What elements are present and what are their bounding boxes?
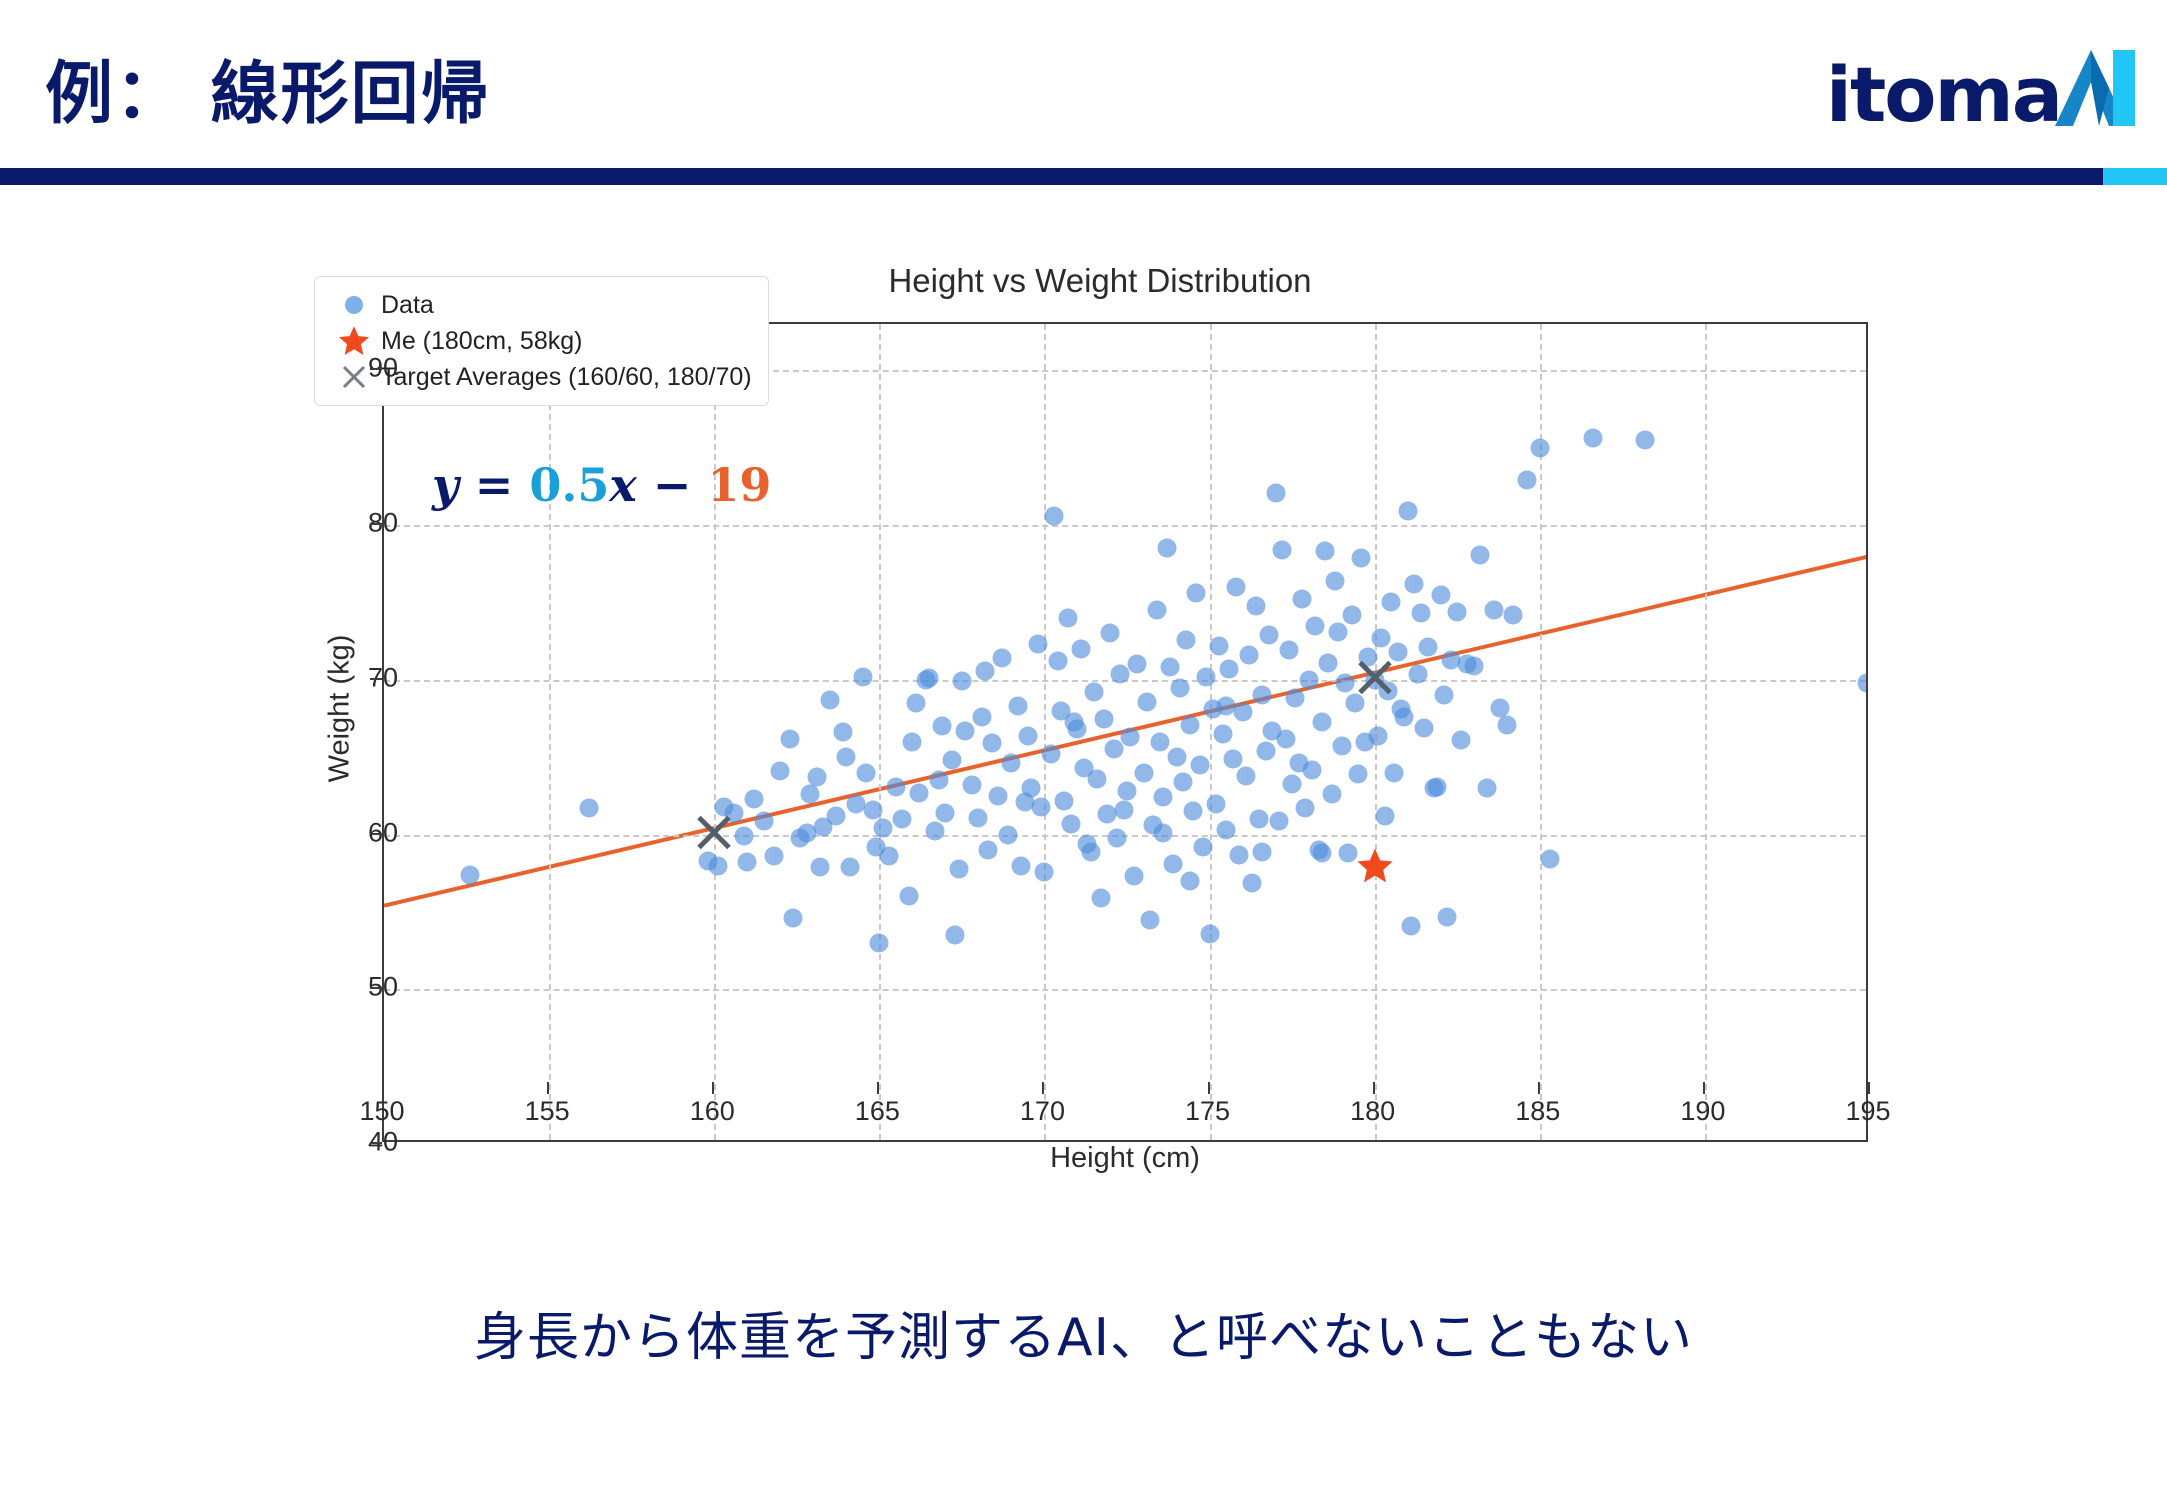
- legend-item: Data: [327, 287, 752, 323]
- brand-logo: itoma: [1826, 38, 2137, 130]
- ai-arrow-mark-icon: [2051, 44, 2137, 130]
- scatter-point: [1299, 670, 1318, 689]
- scatter-point: [1042, 745, 1061, 764]
- target-average-x-marker: [1354, 656, 1396, 703]
- scatter-point: [1174, 772, 1193, 791]
- scatter-point: [1177, 630, 1196, 649]
- scatter-point: [1332, 737, 1351, 756]
- x-tick-mark: [1208, 1082, 1210, 1094]
- scatter-point: [1147, 601, 1166, 620]
- scatter-point: [1088, 769, 1107, 788]
- scatter-point: [1210, 636, 1229, 655]
- scatter-point: [1279, 641, 1298, 660]
- scatter-point: [1355, 732, 1374, 751]
- scatter-point: [1418, 638, 1437, 657]
- scatter-point: [1256, 742, 1275, 761]
- scatter-point: [1167, 748, 1186, 767]
- scatter-point: [1217, 697, 1236, 716]
- scatter-point: [1094, 709, 1113, 728]
- scatter-point: [1114, 800, 1133, 819]
- gridline-vertical: [1044, 324, 1046, 1140]
- scatter-point: [1286, 689, 1305, 708]
- scatter-point: [1032, 797, 1051, 816]
- scatter-point: [1269, 811, 1288, 830]
- y-tick-label: 60: [338, 817, 398, 848]
- scatter-point: [1583, 429, 1602, 448]
- scatter-point: [1190, 755, 1209, 774]
- scatter-point: [1405, 574, 1424, 593]
- y-tick-mark: [370, 1142, 382, 1144]
- scatter-point: [873, 819, 892, 838]
- scatter-point: [886, 777, 905, 796]
- scatter-point: [1045, 506, 1064, 525]
- scatter-point: [1121, 728, 1140, 747]
- scatter-point: [1382, 593, 1401, 612]
- scatter-point: [1170, 678, 1189, 697]
- scatter-point: [1484, 601, 1503, 620]
- equation-variable: x: [609, 458, 636, 512]
- x-tick-label: 160: [690, 1096, 735, 1127]
- scatter-point: [1223, 749, 1242, 768]
- gridline-vertical: [1210, 324, 1212, 1140]
- page-title: 例： 線形回帰: [45, 38, 491, 137]
- scatter-point: [1213, 725, 1232, 744]
- scatter-point: [460, 865, 479, 884]
- legend-label: Me (180cm, 58kg): [381, 327, 582, 356]
- scatter-point: [1002, 754, 1021, 773]
- scatter-point: [1395, 707, 1414, 726]
- scatter-point: [933, 717, 952, 736]
- x-tick-label: 155: [525, 1096, 570, 1127]
- scatter-point: [1259, 625, 1278, 644]
- x-tick-label: 170: [1020, 1096, 1065, 1127]
- scatter-point: [1408, 664, 1427, 683]
- scatter-point: [1329, 622, 1348, 641]
- x-tick-mark: [1538, 1082, 1540, 1094]
- scatter-point: [1233, 703, 1252, 722]
- scatter-point: [1134, 763, 1153, 782]
- scatter-point: [919, 669, 938, 688]
- scatter-point: [1160, 658, 1179, 677]
- y-axis-label: Weight (kg): [324, 499, 357, 919]
- scatter-point: [800, 785, 819, 804]
- y-tick-label: 40: [338, 1127, 398, 1158]
- scatter-point: [837, 748, 856, 767]
- scatter-point: [1253, 842, 1272, 861]
- x-axis-label: Height (cm): [382, 1142, 1868, 1175]
- scatter-point: [979, 841, 998, 860]
- scatter-point: [1322, 785, 1341, 804]
- scatter-point: [1124, 867, 1143, 886]
- y-tick-label: 80: [338, 508, 398, 539]
- scatter-point: [810, 858, 829, 877]
- scatter-point: [771, 762, 790, 781]
- slide-header: 例： 線形回帰 itoma: [0, 0, 2167, 186]
- y-tick-label: 50: [338, 972, 398, 1003]
- scatter-point: [1289, 754, 1308, 773]
- scatter-point: [903, 732, 922, 751]
- scatter-point: [1154, 788, 1173, 807]
- scatter-point: [1497, 715, 1516, 734]
- scatter-point: [1283, 774, 1302, 793]
- equation-lhs: y: [432, 458, 459, 512]
- scatter-point: [942, 751, 961, 770]
- scatter-point: [949, 859, 968, 878]
- legend-label: Target Averages (160/60, 180/70): [381, 363, 752, 392]
- scatter-point: [1243, 873, 1262, 892]
- header-divider-rule: [0, 168, 2167, 185]
- x-tick-mark: [382, 1082, 384, 1094]
- scatter-point: [946, 926, 965, 945]
- scatter-point: [1312, 844, 1331, 863]
- scatter-point: [1048, 652, 1067, 671]
- scatter-point: [1154, 824, 1173, 843]
- scatter-point: [1530, 438, 1549, 457]
- scatter-point: [1319, 653, 1338, 672]
- scatter-point: [834, 723, 853, 742]
- scatter-point: [807, 768, 826, 787]
- scatter-point: [906, 694, 925, 713]
- scatter-point: [1306, 616, 1325, 635]
- x-tick-label: 165: [855, 1096, 900, 1127]
- gridline-vertical: [714, 324, 716, 1140]
- scatter-point: [1180, 715, 1199, 734]
- scatter-point: [1071, 639, 1090, 658]
- scatter-point: [1312, 712, 1331, 731]
- scatter-point: [754, 811, 773, 830]
- gridline-vertical: [549, 324, 551, 1140]
- y-tick-label: 90: [338, 353, 398, 384]
- scatter-point: [1184, 802, 1203, 821]
- x-tick-mark: [877, 1082, 879, 1094]
- scatter-point: [708, 856, 727, 875]
- equation-intercept: 19: [707, 458, 771, 512]
- x-tick-mark: [1703, 1082, 1705, 1094]
- scatter-point: [1236, 766, 1255, 785]
- scatter-point: [999, 825, 1018, 844]
- scatter-point: [1118, 782, 1137, 801]
- gridline-vertical: [1705, 324, 1707, 1140]
- scatter-point: [926, 822, 945, 841]
- scatter-point: [1207, 794, 1226, 813]
- scatter-point: [1015, 793, 1034, 812]
- scatter-point: [1180, 871, 1199, 890]
- scatter-point: [1035, 862, 1054, 881]
- scatter-point: [1028, 635, 1047, 654]
- scatter-point: [781, 729, 800, 748]
- scatter-point: [1217, 820, 1236, 839]
- scatter-point: [962, 776, 981, 795]
- scatter-point: [764, 847, 783, 866]
- scatter-point: [1061, 814, 1080, 833]
- scatter-point: [1078, 834, 1097, 853]
- scatter-point: [1296, 799, 1315, 818]
- x-tick-label: 180: [1350, 1096, 1395, 1127]
- scatter-point: [1471, 545, 1490, 564]
- scatter-point: [1451, 731, 1470, 750]
- scatter-point: [893, 810, 912, 829]
- scatter-point: [1448, 602, 1467, 621]
- scatter-point: [1065, 712, 1084, 731]
- scatter-point: [1342, 605, 1361, 624]
- scatter-point: [929, 771, 948, 790]
- equation-minus: −: [653, 458, 692, 512]
- target-average-x-marker: [693, 811, 735, 858]
- scatter-point: [1431, 585, 1450, 604]
- scatter-point: [1375, 807, 1394, 826]
- legend-label: Data: [381, 291, 434, 320]
- scatter-point: [1055, 791, 1074, 810]
- scatter-point: [1084, 683, 1103, 702]
- y-tick-mark: [370, 523, 382, 525]
- scatter-point: [870, 933, 889, 952]
- scatter-point: [1266, 483, 1285, 502]
- gridline-horizontal: [384, 525, 1866, 527]
- equation-slope: 0.5: [529, 458, 609, 512]
- equation-equals: =: [475, 458, 514, 512]
- scatter-point: [1101, 624, 1120, 643]
- gridline-vertical: [879, 324, 881, 1140]
- scatter-point: [1220, 660, 1239, 679]
- y-tick-mark: [370, 987, 382, 989]
- scatter-point: [1263, 721, 1282, 740]
- scatter-point: [1104, 740, 1123, 759]
- scatter-point: [1349, 765, 1368, 784]
- x-tick-mark: [712, 1082, 714, 1094]
- scatter-point: [1504, 605, 1523, 624]
- scatter-point: [1385, 763, 1404, 782]
- x-tick-label: 150: [359, 1096, 404, 1127]
- scatter-point: [1273, 540, 1292, 559]
- scatter-point: [734, 827, 753, 846]
- scatter-point: [1398, 502, 1417, 521]
- scatter-point: [1293, 590, 1312, 609]
- scatter-point: [1435, 686, 1454, 705]
- scatter-point: [956, 721, 975, 740]
- scatter-point: [1316, 542, 1335, 561]
- scatter-point: [1428, 777, 1447, 796]
- scatter-point: [1335, 673, 1354, 692]
- scatter-point: [840, 858, 859, 877]
- legend-circle-icon: [327, 294, 381, 316]
- scatter-point: [900, 887, 919, 906]
- scatter-point: [1157, 539, 1176, 558]
- scatter-point: [1012, 856, 1031, 875]
- slide-caption: 身長から体重を予測するAI、と呼べないこともない: [0, 1295, 2167, 1370]
- scatter-point: [909, 783, 928, 802]
- scatter-point: [1240, 646, 1259, 665]
- scatter-point: [969, 808, 988, 827]
- me-star-marker: [1355, 846, 1395, 886]
- scatter-point: [989, 786, 1008, 805]
- x-tick-label: 190: [1680, 1096, 1725, 1127]
- y-tick-mark: [370, 833, 382, 835]
- header-rule-cyan: [2103, 168, 2167, 185]
- scatter-point: [1246, 596, 1265, 615]
- scatter-point: [1226, 578, 1245, 597]
- scatter-point: [1137, 692, 1156, 711]
- scatter-point: [1540, 850, 1559, 869]
- x-tick-label: 175: [1185, 1096, 1230, 1127]
- scatter-point: [738, 853, 757, 872]
- header-rule-navy: [0, 168, 2103, 185]
- chart-legend: DataMe (180cm, 58kg)Target Averages (160…: [314, 276, 769, 406]
- scatter-point: [1352, 548, 1371, 567]
- scatter-point: [1151, 732, 1170, 751]
- regression-equation: y = 0.5x − 19: [432, 458, 771, 512]
- scatter-point: [1401, 916, 1420, 935]
- scatter-point: [797, 824, 816, 843]
- x-tick-mark: [1868, 1082, 1870, 1094]
- x-tick-mark: [1373, 1082, 1375, 1094]
- chart-figure: Height vs Weight Distribution Height (cm…: [300, 262, 1900, 1182]
- scatter-point: [992, 649, 1011, 668]
- scatter-point: [1253, 686, 1272, 705]
- scatter-point: [1193, 837, 1212, 856]
- scatter-point: [1415, 718, 1434, 737]
- scatter-point: [820, 690, 839, 709]
- scatter-point: [1438, 907, 1457, 926]
- scatter-point: [1250, 810, 1269, 829]
- scatter-point: [1141, 910, 1160, 929]
- scatter-point: [1477, 779, 1496, 798]
- scatter-point: [857, 763, 876, 782]
- scatter-point: [952, 672, 971, 691]
- scatter-point: [863, 800, 882, 819]
- scatter-point: [1009, 697, 1028, 716]
- scatter-point: [1326, 571, 1345, 590]
- scatter-point: [744, 789, 763, 808]
- scatter-point: [1018, 726, 1037, 745]
- y-tick-label: 70: [338, 662, 398, 693]
- scatter-point: [1411, 604, 1430, 623]
- scatter-point: [853, 667, 872, 686]
- scatter-point: [1372, 629, 1391, 648]
- gridline-horizontal: [384, 989, 1866, 991]
- scatter-point: [1091, 889, 1110, 908]
- brand-wordmark: itoma: [1826, 60, 2061, 130]
- scatter-point: [1636, 431, 1655, 450]
- scatter-point: [976, 661, 995, 680]
- y-tick-mark: [370, 678, 382, 680]
- x-tick-mark: [547, 1082, 549, 1094]
- scatter-point: [1230, 845, 1249, 864]
- scatter-point: [1108, 828, 1127, 847]
- x-tick-mark: [1042, 1082, 1044, 1094]
- scatter-point: [1197, 667, 1216, 686]
- scatter-point: [1187, 584, 1206, 603]
- scatter-point: [1127, 655, 1146, 674]
- scatter-point: [982, 734, 1001, 753]
- scatter-point: [1200, 924, 1219, 943]
- scatter-point: [784, 909, 803, 928]
- x-tick-label: 195: [1845, 1096, 1890, 1127]
- scatter-point: [1458, 655, 1477, 674]
- scatter-point: [936, 803, 955, 822]
- plot-area: [382, 322, 1868, 1142]
- scatter-point: [827, 807, 846, 826]
- scatter-point: [1517, 471, 1536, 490]
- scatter-point: [1058, 608, 1077, 627]
- x-tick-label: 185: [1515, 1096, 1560, 1127]
- y-tick-mark: [370, 368, 382, 370]
- scatter-point: [1164, 854, 1183, 873]
- scatter-point: [579, 799, 598, 818]
- scatter-point: [867, 837, 886, 856]
- scatter-point: [972, 707, 991, 726]
